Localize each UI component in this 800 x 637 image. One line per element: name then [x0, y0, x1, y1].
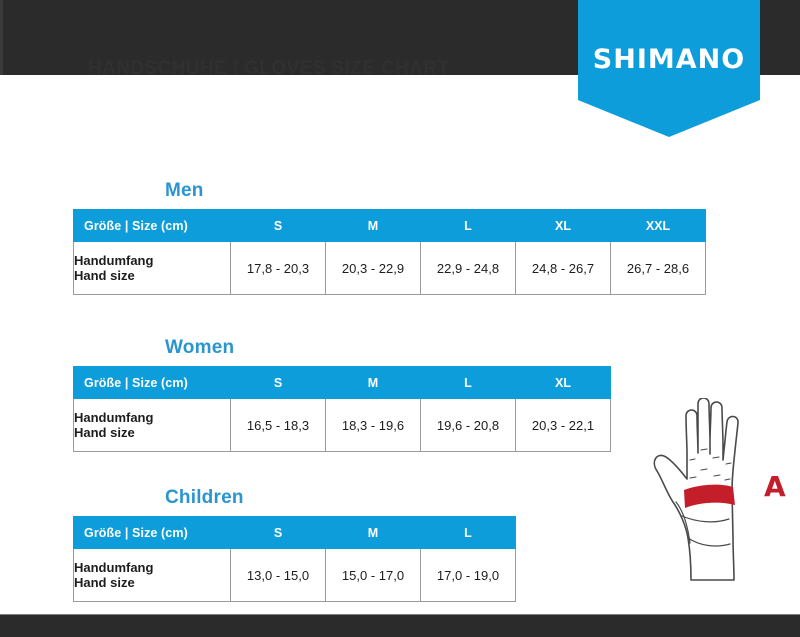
- column-header-label: Größe | Size (cm): [74, 210, 231, 242]
- column-header-s: S: [231, 210, 326, 242]
- table-header-row: Größe | Size (cm) S M L XL: [74, 367, 611, 399]
- cell-women-xl: 20,3 - 22,1: [516, 399, 611, 452]
- column-header-m: M: [326, 517, 421, 549]
- column-header-m: M: [326, 210, 421, 242]
- column-header-xl: XL: [516, 367, 611, 399]
- column-header-s: S: [231, 517, 326, 549]
- row-label-en: Hand size: [74, 425, 230, 440]
- column-header-label: Größe | Size (cm): [74, 517, 231, 549]
- row-label-hand-size: Handumfang Hand size: [74, 242, 231, 295]
- table-row: Handumfang Hand size 13,0 - 15,0 15,0 - …: [74, 549, 516, 602]
- cell-men-xl: 24,8 - 26,7: [516, 242, 611, 295]
- column-header-xxl: XXL: [611, 210, 706, 242]
- size-table-women: Größe | Size (cm) S M L XL Handumfang Ha…: [73, 366, 611, 452]
- table-header-row: Größe | Size (cm) S M L: [74, 517, 516, 549]
- column-header-l: L: [421, 517, 516, 549]
- size-table-men: Größe | Size (cm) S M L XL XXL Handumfan…: [73, 209, 706, 295]
- row-label-de: Handumfang: [74, 253, 230, 268]
- row-label-en: Hand size: [74, 268, 230, 283]
- table-row: Handumfang Hand size 17,8 - 20,3 20,3 - …: [74, 242, 706, 295]
- cell-men-m: 20,3 - 22,9: [326, 242, 421, 295]
- measure-label-a: A: [764, 470, 786, 503]
- column-header-l: L: [421, 367, 516, 399]
- size-section-children: Children Größe | Size (cm) S M L Handumf…: [73, 487, 516, 602]
- cell-women-l: 19,6 - 20,8: [421, 399, 516, 452]
- column-header-xl: XL: [516, 210, 611, 242]
- row-label-hand-size: Handumfang Hand size: [74, 399, 231, 452]
- row-label-en: Hand size: [74, 575, 230, 590]
- section-title-children: Children: [165, 487, 516, 509]
- table-header-row: Größe | Size (cm) S M L XL XXL: [74, 210, 706, 242]
- cell-children-l: 17,0 - 19,0: [421, 549, 516, 602]
- column-header-label: Größe | Size (cm): [74, 367, 231, 399]
- hand-measure-icon: [640, 398, 800, 608]
- cell-men-xxl: 26,7 - 28,6: [611, 242, 706, 295]
- shimano-logo-banner: SHIMANO: [578, 0, 760, 137]
- row-label-de: Handumfang: [74, 560, 230, 575]
- section-title-women: Women: [165, 337, 611, 359]
- size-section-women: Women Größe | Size (cm) S M L XL Handumf…: [73, 337, 611, 452]
- cell-children-s: 13,0 - 15,0: [231, 549, 326, 602]
- cell-men-l: 22,9 - 24,8: [421, 242, 516, 295]
- shimano-wordmark: SHIMANO: [578, 44, 760, 75]
- cell-children-m: 15,0 - 17,0: [326, 549, 421, 602]
- cell-women-s: 16,5 - 18,3: [231, 399, 326, 452]
- page-title: HANDSCHUHE | GLOVES SIZE CHART: [88, 58, 449, 75]
- header-left-edge: [0, 0, 3, 75]
- table-row: Handumfang Hand size 16,5 - 18,3 18,3 - …: [74, 399, 611, 452]
- column-header-m: M: [326, 367, 421, 399]
- cell-women-m: 18,3 - 19,6: [326, 399, 421, 452]
- size-section-men: Men Größe | Size (cm) S M L XL XXL Handu…: [73, 180, 706, 295]
- size-table-children: Größe | Size (cm) S M L Handumfang Hand …: [73, 516, 516, 602]
- column-header-l: L: [421, 210, 516, 242]
- hand-measure-illustration: A: [640, 398, 800, 608]
- section-title-men: Men: [165, 180, 706, 202]
- row-label-hand-size: Handumfang Hand size: [74, 549, 231, 602]
- cell-men-s: 17,8 - 20,3: [231, 242, 326, 295]
- page-footer: [0, 615, 800, 637]
- column-header-s: S: [231, 367, 326, 399]
- measure-band: [684, 485, 735, 508]
- row-label-de: Handumfang: [74, 410, 230, 425]
